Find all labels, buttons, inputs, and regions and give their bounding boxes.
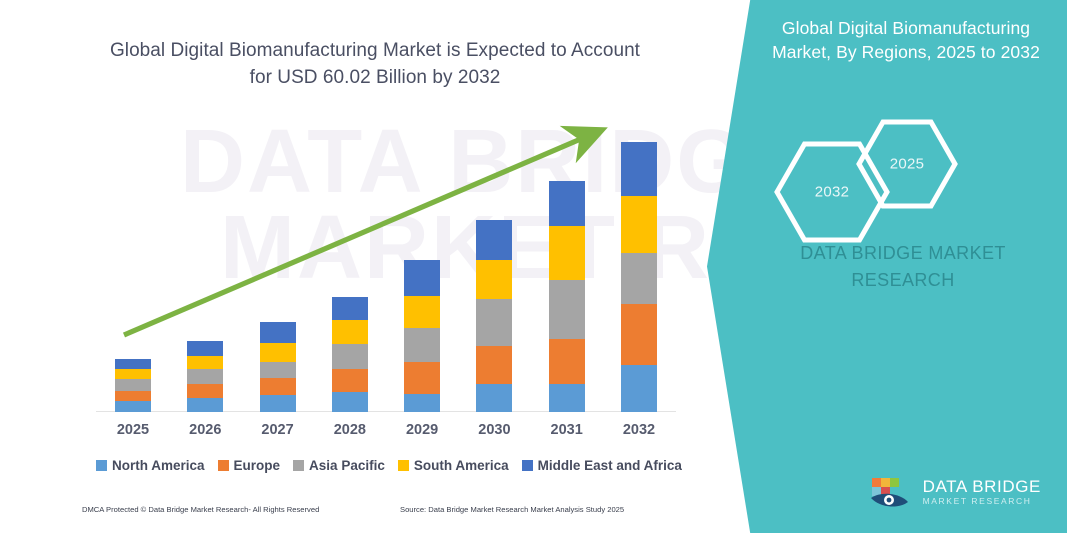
infographic-root: DATA BRIDGE MARKET RESEARCH Global Digit…	[0, 0, 1067, 533]
bar-segment-south-america[interactable]	[549, 226, 585, 279]
x-axis-label-2030: 2030	[461, 422, 527, 438]
x-axis-label-2029: 2029	[389, 422, 455, 438]
bar-segment-north-america[interactable]	[115, 401, 151, 412]
logo-line-2: MARKET RESEARCH	[923, 497, 1041, 506]
bar-segment-europe[interactable]	[187, 384, 223, 398]
bar-segment-middle-east-and-africa[interactable]	[260, 322, 296, 343]
bar-segment-asia-pacific[interactable]	[404, 328, 440, 362]
legend-swatch-icon	[398, 460, 409, 471]
bar-segment-north-america[interactable]	[332, 392, 368, 412]
hexagon-2025-label: 2025	[859, 156, 955, 173]
bar-column-2030	[461, 220, 527, 412]
hexagon-group: 2032 2025	[767, 118, 1057, 248]
bar-segment-middle-east-and-africa[interactable]	[404, 260, 440, 295]
bar-segment-south-america[interactable]	[187, 356, 223, 369]
bar-segment-europe[interactable]	[404, 362, 440, 394]
bar-segment-south-america[interactable]	[621, 196, 657, 254]
chart-legend: North AmericaEuropeAsia PacificSouth Ame…	[96, 458, 696, 473]
bar-segment-south-america[interactable]	[260, 343, 296, 362]
bar-segment-middle-east-and-africa[interactable]	[476, 220, 512, 260]
data-bridge-logo-icon	[868, 471, 914, 513]
bar-segment-europe[interactable]	[549, 339, 585, 384]
stacked-bar[interactable]	[404, 260, 440, 412]
legend-label: Europe	[234, 458, 281, 473]
bar-segment-europe[interactable]	[332, 369, 368, 392]
legend-item-south-america[interactable]: South America	[398, 458, 509, 473]
bar-segment-asia-pacific[interactable]	[621, 253, 657, 304]
x-axis-label-2032: 2032	[606, 422, 672, 438]
bar-segment-europe[interactable]	[621, 304, 657, 365]
footer-copyright: DMCA Protected © Data Bridge Market Rese…	[82, 505, 319, 514]
legend-swatch-icon	[293, 460, 304, 471]
legend-item-europe[interactable]: Europe	[218, 458, 281, 473]
legend-label: South America	[414, 458, 509, 473]
bar-segment-asia-pacific[interactable]	[187, 369, 223, 384]
chart-area: DATA BRIDGE MARKET RESEARCH Global Digit…	[0, 0, 760, 533]
bar-segment-middle-east-and-africa[interactable]	[332, 297, 368, 320]
legend-item-asia-pacific[interactable]: Asia Pacific	[293, 458, 385, 473]
legend-item-middle-east-and-africa[interactable]: Middle East and Africa	[522, 458, 682, 473]
footer-source: Source: Data Bridge Market Research Mark…	[400, 505, 624, 514]
bar-segment-north-america[interactable]	[621, 365, 657, 412]
logo-text: DATA BRIDGE MARKET RESEARCH	[923, 478, 1041, 507]
hexagon-2025: 2025	[859, 118, 955, 210]
bar-segment-south-america[interactable]	[332, 320, 368, 344]
brand-line-1: DATA BRIDGE MARKET	[757, 240, 1049, 267]
legend-swatch-icon	[218, 460, 229, 471]
bar-segment-asia-pacific[interactable]	[476, 299, 512, 346]
bar-column-2032	[606, 142, 672, 412]
bar-segment-europe[interactable]	[260, 378, 296, 395]
panel-title-line-1: Global Digital Biomanufacturing	[755, 16, 1057, 40]
chart-title-line-1: Global Digital Biomanufacturing Market i…	[70, 38, 680, 65]
chart-title-line-2: for USD 60.02 Billion by 2032	[70, 65, 680, 92]
stacked-bar[interactable]	[260, 322, 296, 412]
bar-segment-north-america[interactable]	[549, 384, 585, 412]
x-axis-labels: 20252026202720282029203020312032	[96, 422, 676, 438]
plot-region	[96, 130, 676, 412]
legend-item-north-america[interactable]: North America	[96, 458, 205, 473]
bar-segment-south-america[interactable]	[115, 369, 151, 379]
brand-watermark: DATA BRIDGE MARKET RESEARCH	[757, 240, 1049, 294]
company-logo: DATA BRIDGE MARKET RESEARCH	[868, 471, 1041, 513]
bar-column-2031	[534, 181, 600, 412]
bar-segment-north-america[interactable]	[260, 395, 296, 412]
bar-segment-europe[interactable]	[476, 346, 512, 384]
brand-line-2: RESEARCH	[757, 267, 1049, 294]
bar-column-2025	[100, 359, 166, 412]
bar-segment-asia-pacific[interactable]	[115, 379, 151, 391]
legend-label: North America	[112, 458, 205, 473]
panel-title: Global Digital Biomanufacturing Market, …	[755, 16, 1057, 64]
legend-label: Asia Pacific	[309, 458, 385, 473]
stacked-bar[interactable]	[621, 142, 657, 412]
footer: DMCA Protected © Data Bridge Market Rese…	[0, 505, 760, 525]
bar-column-2028	[317, 297, 383, 412]
bar-segment-middle-east-and-africa[interactable]	[549, 181, 585, 226]
bar-column-2027	[245, 322, 311, 412]
bar-segment-asia-pacific[interactable]	[332, 344, 368, 369]
right-side-panel: Global Digital Biomanufacturing Market, …	[707, 0, 1067, 533]
bar-segment-north-america[interactable]	[404, 394, 440, 412]
bar-segment-middle-east-and-africa[interactable]	[621, 142, 657, 196]
chart-title: Global Digital Biomanufacturing Market i…	[70, 38, 680, 92]
stacked-bar[interactable]	[476, 220, 512, 412]
stacked-bar[interactable]	[187, 341, 223, 412]
x-axis-label-2026: 2026	[172, 422, 238, 438]
bar-segment-middle-east-and-africa[interactable]	[115, 359, 151, 369]
bar-segment-north-america[interactable]	[187, 398, 223, 412]
legend-swatch-icon	[522, 460, 533, 471]
bar-segment-asia-pacific[interactable]	[549, 280, 585, 339]
bar-segment-middle-east-and-africa[interactable]	[187, 341, 223, 356]
legend-swatch-icon	[96, 460, 107, 471]
logo-line-1: DATA BRIDGE	[923, 478, 1041, 496]
bar-segment-asia-pacific[interactable]	[260, 362, 296, 378]
bar-segment-europe[interactable]	[115, 391, 151, 401]
x-axis-label-2028: 2028	[317, 422, 383, 438]
panel-title-line-2: Market, By Regions, 2025 to 2032	[755, 40, 1057, 64]
bar-segment-north-america[interactable]	[476, 384, 512, 412]
stacked-bar[interactable]	[332, 297, 368, 412]
stacked-bar[interactable]	[549, 181, 585, 412]
bar-column-2029	[389, 260, 455, 412]
stacked-bar-group	[96, 130, 676, 412]
stacked-bar[interactable]	[115, 359, 151, 412]
bar-column-2026	[172, 341, 238, 412]
legend-label: Middle East and Africa	[538, 458, 682, 473]
x-axis-label-2027: 2027	[245, 422, 311, 438]
x-axis-label-2025: 2025	[100, 422, 166, 438]
bar-segment-south-america[interactable]	[404, 296, 440, 328]
bar-segment-south-america[interactable]	[476, 260, 512, 298]
x-axis-label-2031: 2031	[534, 422, 600, 438]
